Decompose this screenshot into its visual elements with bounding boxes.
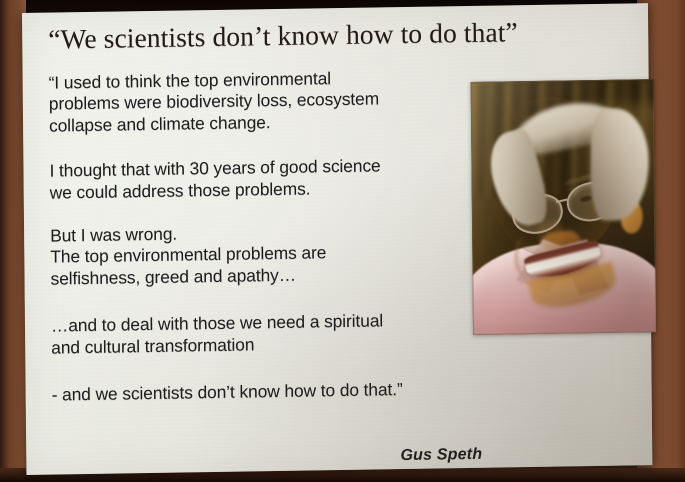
- presentation-slide: “We scientists don’t know how to do that…: [22, 3, 652, 475]
- portrait-photo: [471, 79, 656, 335]
- quote-paragraph-1: “I used to think the top environmental p…: [49, 66, 480, 137]
- quote-paragraph-4: …and to deal with those we need a spirit…: [51, 309, 481, 359]
- quote-paragraph-3: But I was wrong. The top environmental p…: [50, 219, 481, 290]
- quote-attribution: Gus Speth: [52, 446, 482, 471]
- quote-paragraph-2: I thought that with 30 years of good sci…: [49, 154, 479, 204]
- quote-paragraph-5: - and we scientists don’t know how to do…: [52, 378, 482, 406]
- screenshot-canvas: “We scientists don’t know how to do that…: [0, 0, 685, 482]
- quote-body: “I used to think the top environmental p…: [49, 66, 482, 410]
- slide-title: “We scientists don’t know how to do that…: [48, 16, 608, 56]
- slide-content: “We scientists don’t know how to do that…: [22, 3, 652, 475]
